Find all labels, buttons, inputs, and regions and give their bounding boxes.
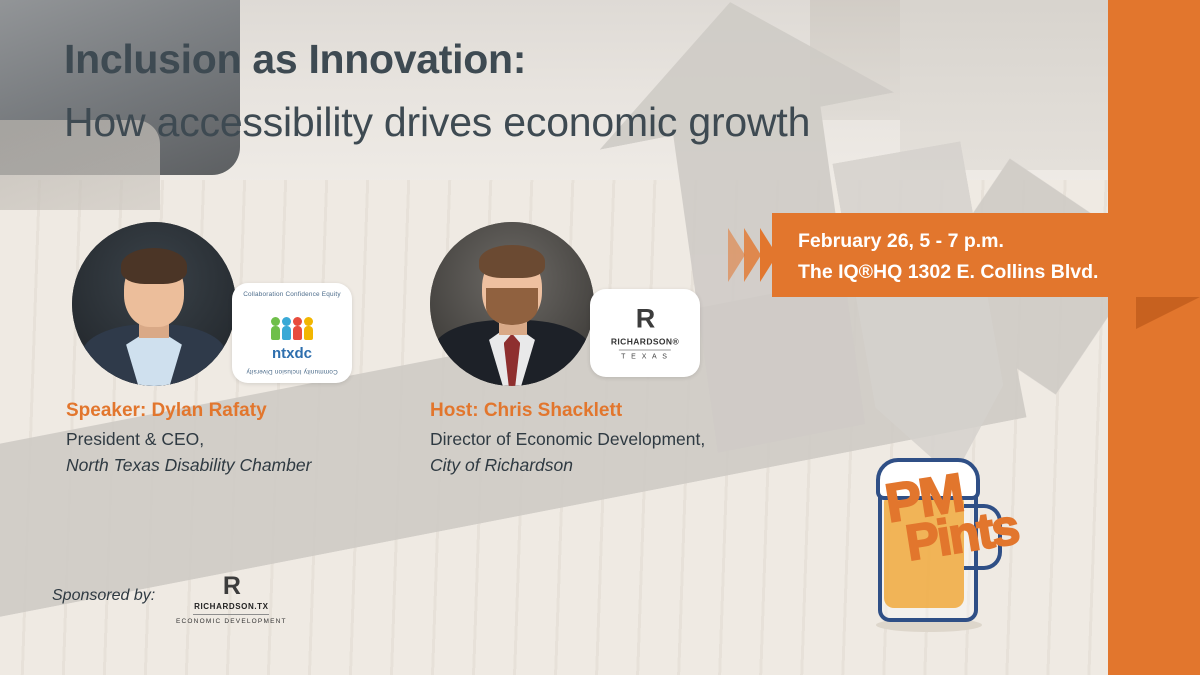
title-line-2: How accessibility drives economic growth	[64, 97, 810, 148]
richardson-name: RICHARDSON®	[611, 337, 679, 347]
speaker-portrait	[72, 222, 236, 386]
host-organization: City of Richardson	[430, 455, 705, 476]
divider	[193, 614, 269, 615]
sponsor-label: Sponsored by:	[52, 587, 155, 605]
background-panel-right	[900, 0, 1110, 170]
ntxdc-wordmark: ntxdc	[240, 345, 344, 362]
richardson-mark-icon: R	[611, 306, 679, 333]
event-datetime: February 26, 5 - 7 p.m.	[798, 226, 1098, 257]
ntxdc-ring-top-text: Collaboration Confidence Equity	[240, 291, 344, 298]
richardson-logo: R RICHARDSON® T E X A S	[590, 289, 700, 377]
ntxdc-people-bodies	[271, 326, 313, 340]
event-poster: Inclusion as Innovation: How accessibili…	[0, 0, 1200, 675]
sponsor-logo-sub: ECONOMIC DEVELOPMENT	[176, 618, 287, 625]
divider	[619, 350, 671, 351]
speaker-role: Speaker: Dylan Rafaty	[66, 400, 311, 422]
title-line-1: Inclusion as Innovation:	[64, 36, 810, 83]
ntxdc-logo: Collaboration Confidence Equity Communit…	[232, 283, 352, 383]
host-role: Host: Chris Shacklett	[430, 400, 705, 422]
ntxdc-people-icon	[271, 317, 313, 326]
host-title: Director of Economic Development,	[430, 429, 705, 450]
orange-side-band	[1108, 0, 1200, 675]
sponsor-mark-icon: R	[176, 574, 287, 599]
host-portrait	[430, 222, 594, 386]
sponsor-logo-name: RICHARDSON.TX	[176, 602, 287, 611]
ntxdc-ring-bottom-text: Community Inclusion Diversity	[240, 368, 344, 375]
speaker-title: President & CEO,	[66, 429, 311, 450]
speaker-caption: Speaker: Dylan Rafaty President & CEO, N…	[66, 400, 311, 476]
speaker-organization: North Texas Disability Chamber	[66, 455, 311, 476]
banner-text-block: February 26, 5 - 7 p.m. The IQ®HQ 1302 E…	[798, 226, 1098, 288]
sponsor-logo: R RICHARDSON.TX ECONOMIC DEVELOPMENT	[176, 574, 287, 625]
event-venue: The IQ®HQ 1302 E. Collins Blvd.	[798, 257, 1098, 288]
page-title: Inclusion as Innovation: How accessibili…	[64, 36, 810, 148]
richardson-sub: T E X A S	[611, 354, 679, 361]
host-caption: Host: Chris Shacklett Director of Econom…	[430, 400, 705, 476]
